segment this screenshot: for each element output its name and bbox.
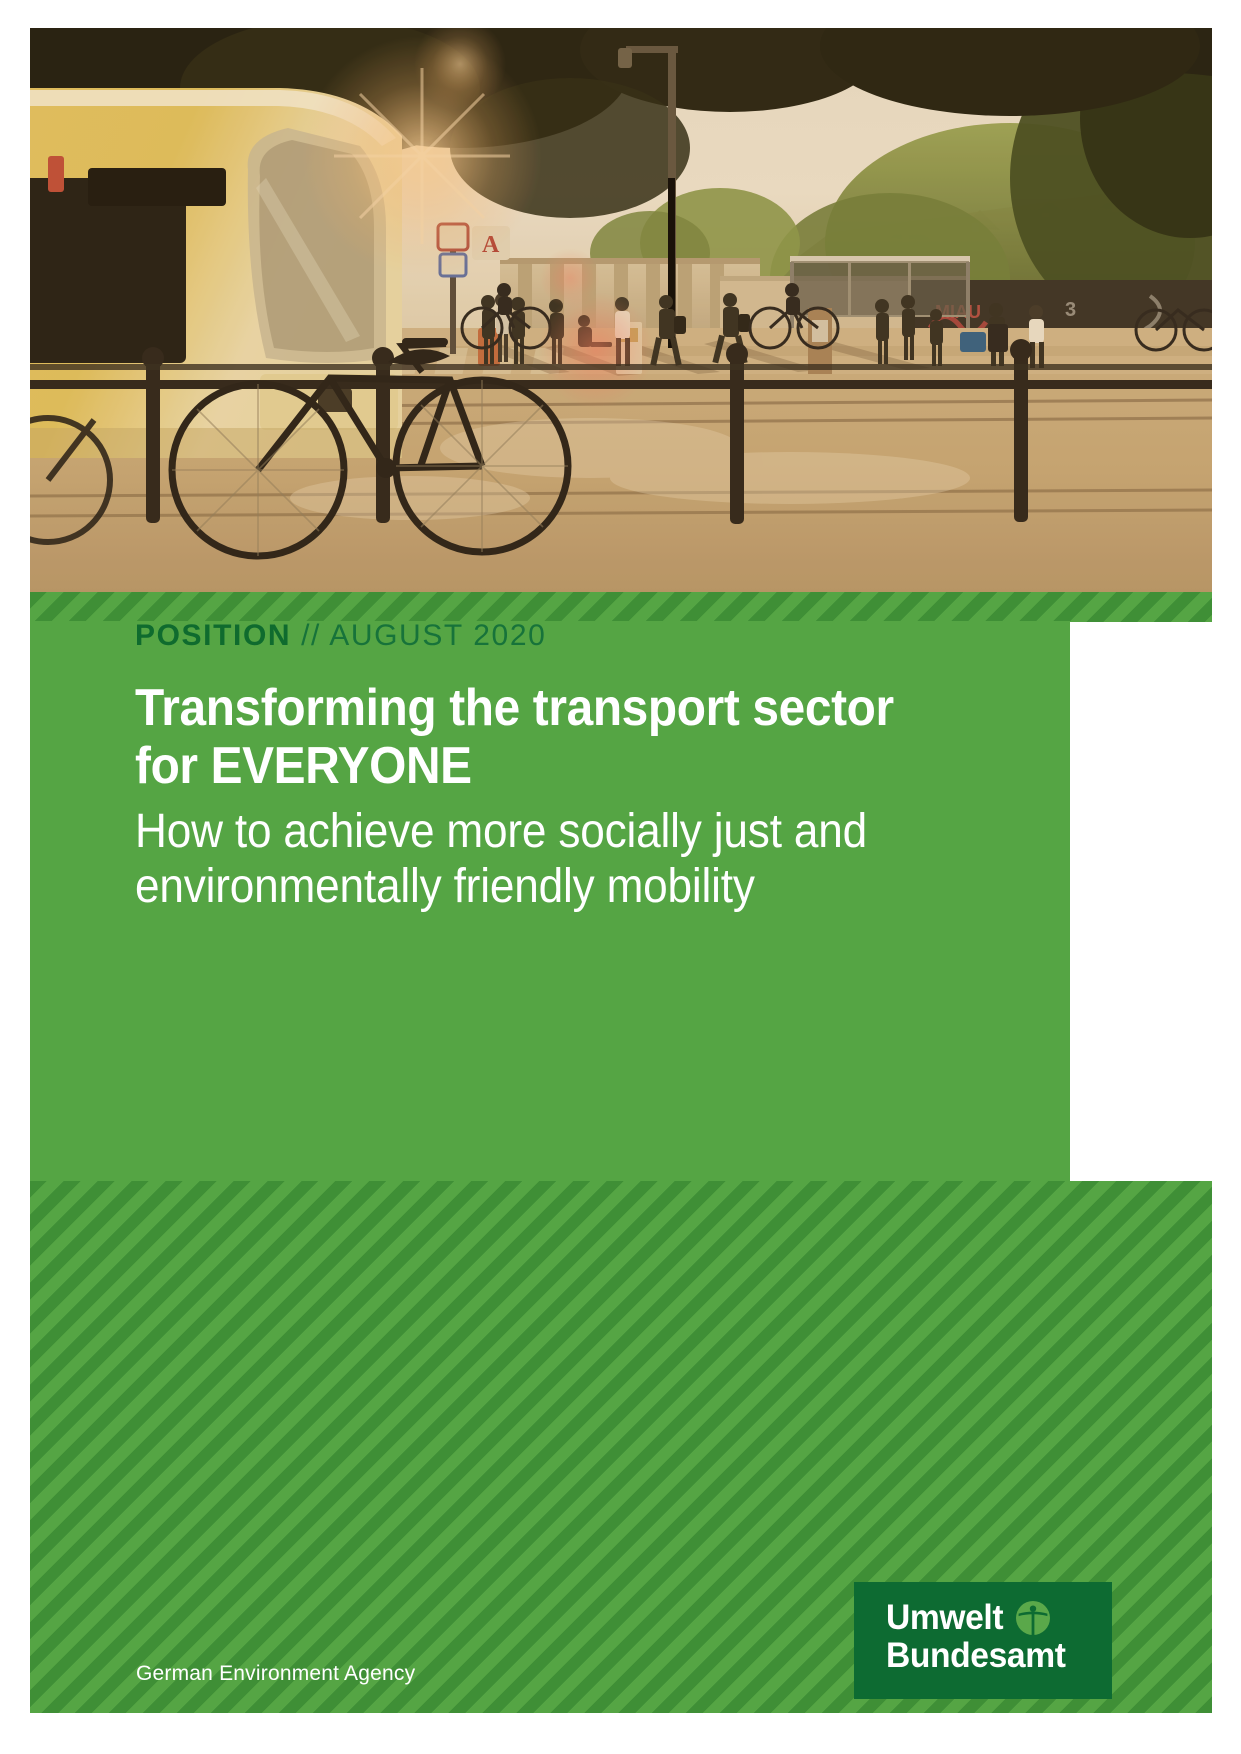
cover-photo: MIAU 3 [30, 28, 1212, 592]
page-title: Transforming the transport sector for EV… [135, 680, 963, 795]
agency-name: German Environment Agency [136, 1662, 415, 1686]
uba-logo-inner: Umwelt Bundesamt [886, 1599, 1086, 1683]
uba-human-tree-circle-icon [1016, 1601, 1050, 1635]
headline-block: POSITION // AUGUST 2020 Transforming the… [135, 618, 1035, 914]
cover-photo-illustration: MIAU 3 [30, 28, 1212, 592]
uba-logo-line-2: Bundesamt [886, 1637, 1078, 1675]
uba-logo-line-1: Umwelt [886, 1599, 1003, 1637]
kicker: POSITION // AUGUST 2020 [135, 618, 1035, 654]
uba-logo: Umwelt Bundesamt [854, 1582, 1112, 1699]
subtitle-line-2: environmentally friendly mobility [135, 860, 963, 914]
uba-mark-svg [1016, 1601, 1050, 1635]
title-line-2: for EVERYONE [135, 738, 963, 796]
cover-page: MIAU 3 [0, 0, 1241, 1754]
subtitle-line-1: How to achieve more socially just and [135, 805, 963, 859]
uba-logo-row-top: Umwelt [886, 1599, 1086, 1637]
kicker-date-label: // AUGUST 2020 [301, 619, 546, 652]
page-subtitle: How to achieve more socially just and en… [135, 805, 963, 913]
title-line-1: Transforming the transport sector [135, 680, 963, 738]
kicker-series-label: POSITION [135, 619, 291, 652]
